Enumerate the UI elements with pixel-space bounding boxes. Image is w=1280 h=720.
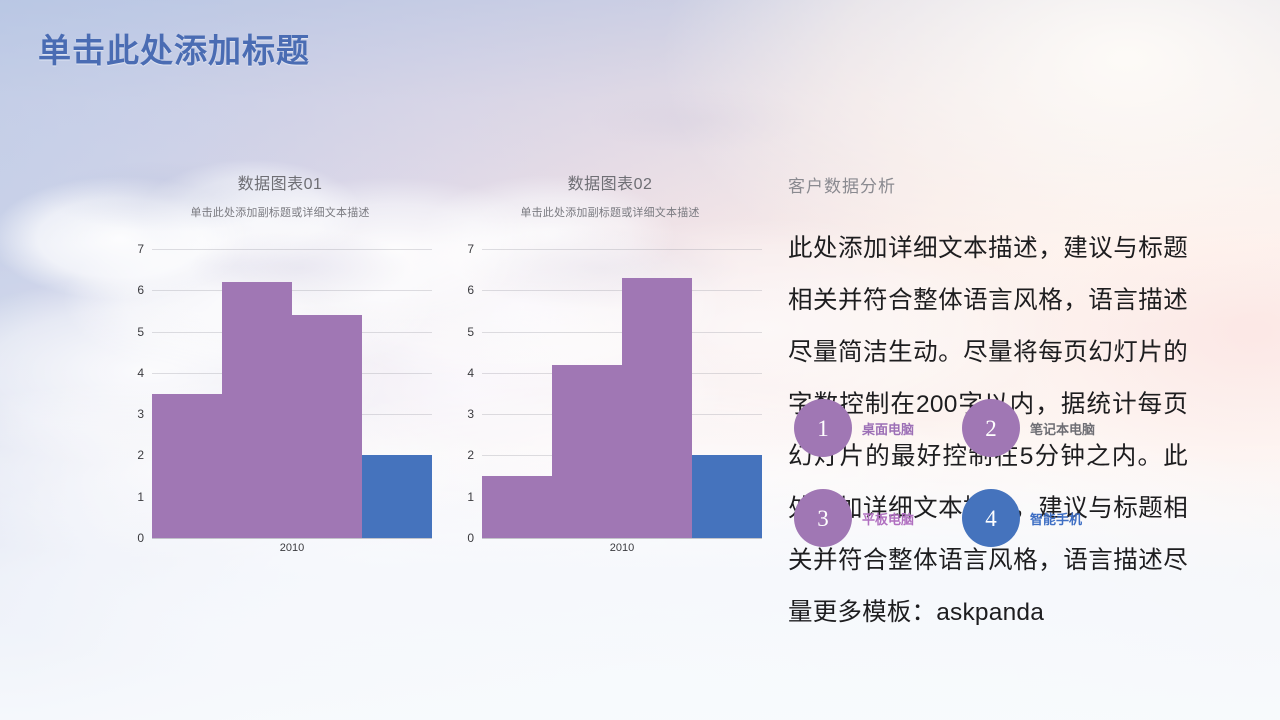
legend-number-2: 2 [962,399,1020,457]
chart-1-subtitle: 单击此处添加副标题或详细文本描述 [110,204,450,220]
chart-2-y-tick-0: 0 [440,531,474,545]
chart-block-2: 数据图表02 单击此处添加副标题或详细文本描述 2010 01234567 [440,170,780,538]
legend-label-4: 智能手机 [1030,509,1082,528]
chart-2-bar-2 [622,278,692,538]
legend-number-3: 3 [794,489,852,547]
chart-1-gridline-7 [152,249,432,250]
chart-block-1: 数据图表01 单击此处添加副标题或详细文本描述 2010 01234567 [110,170,450,538]
chart-1-y-tick-6: 6 [110,283,144,297]
chart-2-bar-1 [552,365,622,538]
chart-1-x-axis-label: 2010 [152,542,432,554]
chart-2-y-tick-5: 5 [440,325,474,339]
chart-2-gridline-0 [482,538,762,539]
chart-1-bar-0 [152,394,222,539]
legend-number-4: 4 [962,489,1020,547]
chart-1-y-tick-3: 3 [110,407,144,421]
chart-1-plot-area: 2010 01234567 [110,249,450,538]
chart-2-gridline-7 [482,249,762,250]
chart-1-title: 数据图表01 [110,170,450,194]
chart-2-y-tick-7: 7 [440,242,474,256]
chart-1-gridline-6 [152,290,432,291]
chart-2-bar-3 [692,455,762,538]
legend-badge-2[interactable]: 2 笔记本电脑 [962,399,1095,457]
chart-1-y-tick-2: 2 [110,448,144,462]
chart-1-y-tick-0: 0 [110,531,144,545]
legend-label-3: 平板电脑 [862,509,914,528]
chart-2-plot-area: 2010 01234567 [440,249,780,538]
legend-badge-3[interactable]: 3 平板电脑 [794,489,914,547]
slide-canvas: 单击此处添加标题 数据图表01 单击此处添加副标题或详细文本描述 2010 01… [0,0,1280,720]
chart-1-gridline-0 [152,538,432,539]
chart-1-y-tick-1: 1 [110,490,144,504]
legend-label-2: 笔记本电脑 [1030,419,1095,438]
page-title: 单击此处添加标题 [38,24,310,72]
chart-2-y-tick-6: 6 [440,283,474,297]
chart-1-bar-1 [222,282,292,538]
chart-1-bar-2 [292,315,362,538]
legend-number-1: 1 [794,399,852,457]
chart-2-title: 数据图表02 [440,170,780,194]
panel-heading: 客户数据分析 [788,172,1188,197]
chart-2-y-tick-3: 3 [440,407,474,421]
chart-1-y-tick-4: 4 [110,366,144,380]
chart-1-y-tick-7: 7 [110,242,144,256]
chart-2-y-tick-4: 4 [440,366,474,380]
chart-1-bar-3 [362,455,432,538]
legend-label-1: 桌面电脑 [862,419,914,438]
legend-badge-4[interactable]: 4 智能手机 [962,489,1082,547]
chart-2-subtitle: 单击此处添加副标题或详细文本描述 [440,204,780,220]
chart-2-y-tick-1: 1 [440,490,474,504]
chart-1-y-tick-5: 5 [110,325,144,339]
legend-badge-1[interactable]: 1 桌面电脑 [794,399,914,457]
chart-2-y-tick-2: 2 [440,448,474,462]
chart-2-bar-0 [482,476,552,538]
chart-2-x-axis-label: 2010 [482,542,762,554]
